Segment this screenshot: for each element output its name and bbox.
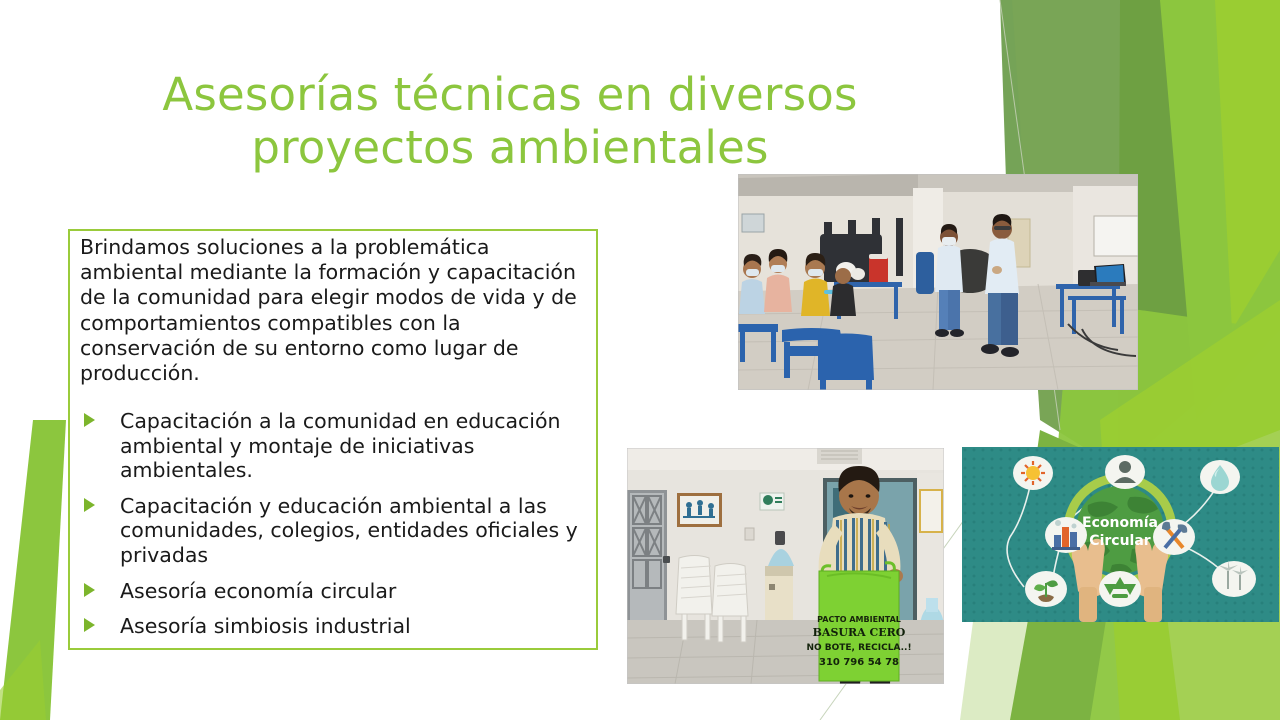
list-item-label: Asesoría simbiosis industrial <box>120 614 411 638</box>
svg-text:PACTO AMBIENTAL: PACTO AMBIENTAL <box>817 615 901 624</box>
svg-text:310 796 54 78: 310 796 54 78 <box>819 657 899 668</box>
infographic-title-line1: Economía <box>1082 515 1158 531</box>
list-item: Capacitación y educación ambiental a las… <box>76 494 596 568</box>
recycle-icon <box>1099 571 1141 607</box>
bullet-list: Capacitación a la comunidad en educación… <box>76 409 596 650</box>
list-item-label: Capacitación a la comunidad en educación… <box>120 409 561 482</box>
water-drop-icon <box>1200 460 1240 494</box>
plant-icon <box>1025 571 1067 607</box>
sun-icon <box>1013 456 1053 490</box>
list-item: Capacitación a la comunidad en educación… <box>76 409 596 483</box>
list-item-label: Capacitación y educación ambiental a las… <box>120 494 578 567</box>
list-item: Asesoría economía circular <box>76 579 596 604</box>
content-textbox: Brindamos soluciones a la problemática a… <box>68 229 598 650</box>
reusable-bag-photo: PACTO AMBIENTAL BASURA CERO NO BOTE, REC… <box>627 448 944 684</box>
list-item: Asesoría simbiosis industrial <box>76 614 596 639</box>
circular-economy-infographic: Economía Circular <box>962 447 1279 622</box>
bullet-triangle-icon <box>84 583 95 597</box>
bullet-triangle-icon <box>84 413 95 427</box>
page-title: Asesorías técnicas en diversos proyectos… <box>60 68 960 174</box>
bullet-triangle-icon <box>84 618 95 632</box>
svg-text:BASURA CERO: BASURA CERO <box>813 626 906 639</box>
person-icon <box>1105 455 1145 489</box>
workshop-training-room-photo <box>738 174 1138 390</box>
tools-icon <box>1153 519 1195 555</box>
svg-text:NO BOTE, RECICLA..!: NO BOTE, RECICLA..! <box>806 643 911 653</box>
infographic-title-line2: Circular <box>1089 533 1150 549</box>
bullet-triangle-icon <box>84 498 95 512</box>
intro-paragraph: Brindamos soluciones a la problemática a… <box>80 235 588 386</box>
slide: Asesorías técnicas en diversos proyectos… <box>0 0 1280 720</box>
list-item-label: Asesoría economía circular <box>120 579 396 603</box>
factory-icon <box>1045 517 1087 553</box>
